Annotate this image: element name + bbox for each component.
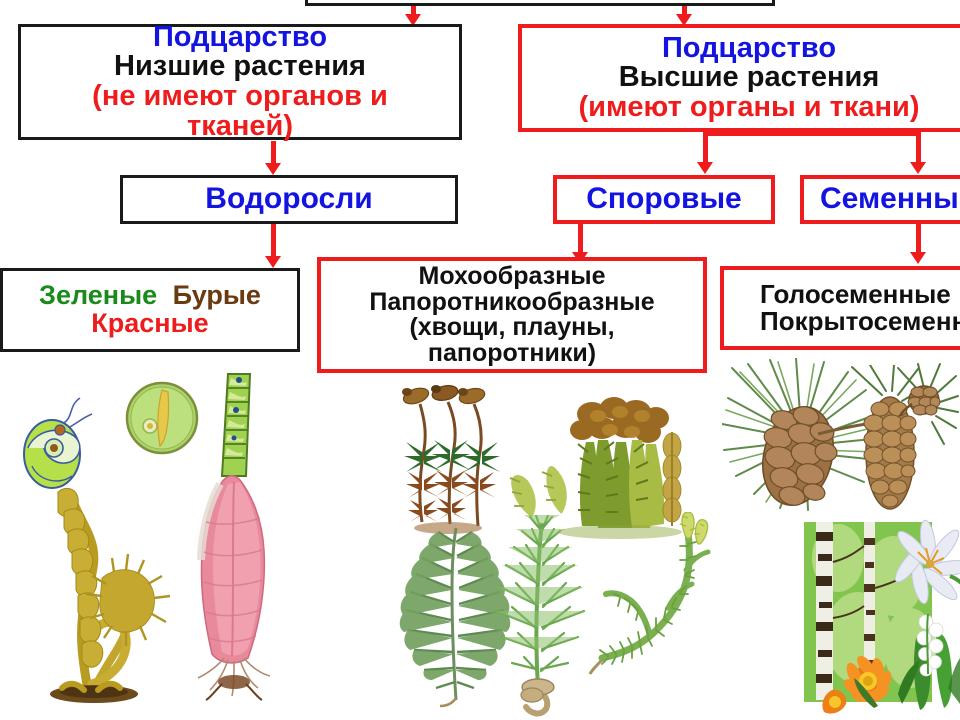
subkingdom-higher-heading: Подцарство (536, 34, 960, 64)
subkingdom-higher-plants-box[interactable]: Подцарство Высшие растения (имеют органы… (518, 24, 960, 132)
seed-groups-box[interactable]: Голосеменные Покрытосеменные (720, 266, 960, 350)
algae-box[interactable]: Водоросли (120, 175, 458, 224)
spore-group-detail-2: папоротники) (428, 341, 596, 367)
subkingdom-higher-note: (имеют органы и ткани) (536, 93, 960, 123)
spore-plants-box[interactable]: Споровые (553, 175, 775, 224)
seed-group-gymnosperms: Голосеменные (760, 281, 951, 308)
spore-plants-label: Споровые (586, 184, 742, 215)
branch-bar-higher-plants (703, 132, 920, 136)
subkingdom-lower-heading: Подцарство (153, 23, 327, 53)
brown-algae-sargassum-icon (28, 478, 188, 708)
algae-type-green: Зеленые (39, 280, 157, 310)
spore-groups-box[interactable]: Мохообразные Папоротникообразные (хвощи,… (317, 257, 707, 373)
spore-group-bryophytes: Мохообразные (419, 264, 606, 290)
diagram-canvas: Подцарство Низшие растения (не имеют орг… (0, 0, 960, 720)
subkingdom-higher-name: Высшие растения (536, 63, 960, 93)
seed-group-angiosperms: Покрытосеменные (760, 308, 960, 335)
spirogyra-filament-icon (212, 372, 262, 482)
subkingdom-lower-note-2: тканей) (187, 112, 293, 142)
subkingdom-lower-note-1: (не имеют органов и (92, 82, 388, 112)
subkingdom-lower-plants-box[interactable]: Подцарство Низшие растения (не имеют орг… (18, 24, 462, 140)
subkingdom-lower-name: Низшие растения (114, 52, 366, 82)
algae-type-brown: Бурые (173, 280, 261, 310)
parent-kingdom-box-cropped (305, 0, 775, 6)
clubmoss-icon (588, 512, 718, 687)
seed-plants-box[interactable]: Семенные (800, 175, 960, 224)
algae-types-box[interactable]: Зеленые Бурые Красные (0, 268, 300, 352)
flowering-forest-icon (798, 518, 960, 718)
algae-type-red: Красные (91, 310, 208, 338)
chlorella-cell-icon (122, 378, 202, 458)
red-algae-porphyra-icon (170, 468, 300, 703)
larch-cone-icon (896, 362, 960, 482)
spore-group-detail-1: (хвощи, плауны, (409, 315, 614, 341)
seed-plants-label: Семенные (820, 184, 960, 215)
spore-group-pteridophytes: Папоротникообразные (369, 290, 654, 316)
algae-label: Водоросли (205, 184, 372, 215)
